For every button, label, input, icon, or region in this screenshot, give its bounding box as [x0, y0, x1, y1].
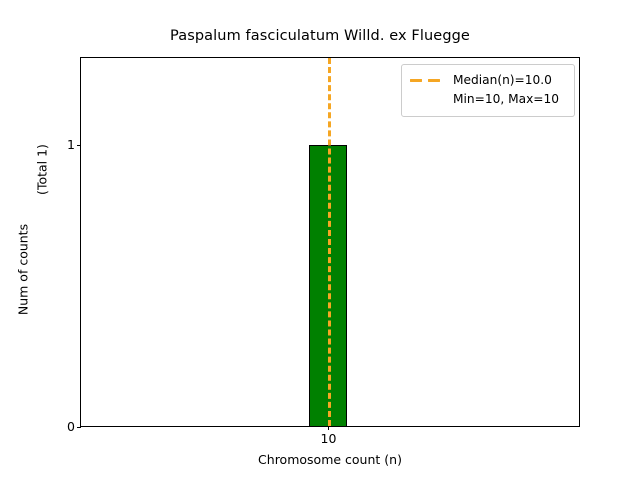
ytick-label-1: 1	[67, 139, 75, 152]
legend-label-minmax: Min=10, Max=10	[453, 93, 559, 105]
dashed-line-icon	[410, 75, 444, 87]
y-axis-label-group: (Total 1) Num of counts	[0, 57, 56, 427]
y-axis-label: Num of counts	[16, 205, 31, 335]
ytick-mark-1	[77, 145, 81, 146]
median-line	[328, 58, 331, 426]
y-axis-label-sub: (Total 1)	[35, 120, 50, 220]
legend-item-minmax: Min=10, Max=10	[410, 90, 566, 109]
legend-label-median: Median(n)=10.0	[453, 74, 552, 86]
ytick-label-0: 0	[67, 421, 75, 434]
xtick-label-10: 10	[321, 433, 337, 446]
legend-item-median: Median(n)=10.0	[410, 71, 566, 90]
plot-area: 0 1 10 Median(n)=10.0 Min=10, Max=10	[80, 57, 580, 427]
figure-canvas: Paspalum fasciculatum Willd. ex Fluegge …	[0, 0, 640, 480]
chart-title: Paspalum fasciculatum Willd. ex Fluegge	[0, 28, 640, 44]
ytick-mark-0	[77, 427, 81, 428]
x-axis-label: Chromosome count (n)	[80, 452, 580, 467]
legend: Median(n)=10.0 Min=10, Max=10	[401, 64, 575, 117]
